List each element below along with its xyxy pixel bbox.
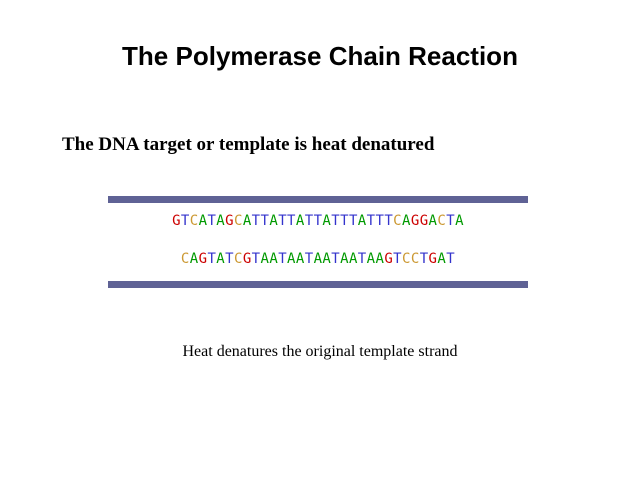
dna-base-t: T (305, 251, 314, 267)
dna-base-t: T (446, 251, 455, 267)
dna-base-t: T (278, 213, 287, 229)
dna-base-a: A (269, 213, 278, 229)
dna-base-c: C (402, 251, 411, 267)
dna-base-g: G (411, 213, 420, 229)
dna-base-t: T (340, 213, 349, 229)
dna-sequence-bottom: CAGTATCGTAATAATAATAATAAGTCCTGAT (108, 250, 528, 268)
dna-base-t: T (278, 251, 287, 267)
dna-base-t: T (420, 251, 429, 267)
dna-base-a: A (402, 213, 411, 229)
dna-base-a: A (216, 213, 225, 229)
dna-base-t: T (287, 213, 296, 229)
dna-base-t: T (331, 251, 340, 267)
dna-base-t: T (384, 213, 393, 229)
dna-base-a: A (322, 251, 331, 267)
dna-base-a: A (296, 251, 305, 267)
dna-base-t: T (446, 213, 455, 229)
dna-base-g: G (420, 213, 429, 229)
dna-base-g: G (384, 251, 393, 267)
dna-base-t: T (207, 251, 216, 267)
dna-base-t: T (252, 251, 261, 267)
dna-sequence-top: GTCATAGCATTATTATTATTTATTTCAGGACTA (108, 212, 528, 230)
dna-base-g: G (172, 213, 181, 229)
dna-base-c: C (437, 213, 446, 229)
dna-base-c: C (234, 251, 243, 267)
dna-base-g: G (225, 213, 234, 229)
dna-base-a: A (296, 213, 305, 229)
dna-base-a: A (216, 251, 225, 267)
page-title: The Polymerase Chain Reaction (0, 40, 640, 72)
dna-base-a: A (322, 213, 331, 229)
dna-backbone-bar-top (108, 196, 528, 203)
dna-base-t: T (331, 213, 340, 229)
dna-base-a: A (243, 213, 252, 229)
dna-base-a: A (349, 251, 358, 267)
dna-base-a: A (437, 251, 446, 267)
dna-base-a: A (358, 213, 367, 229)
dna-base-t: T (207, 213, 216, 229)
dna-base-t: T (349, 213, 358, 229)
dna-base-c: C (181, 251, 190, 267)
dna-duplex-diagram: GTCATAGCATTATTATTATTTATTTCAGGACTA CAGTAT… (108, 196, 528, 288)
presentation-slide: The Polymerase Chain Reaction The DNA ta… (0, 0, 640, 480)
dna-base-a: A (269, 251, 278, 267)
dna-base-g: G (243, 251, 252, 267)
dna-base-c: C (411, 251, 420, 267)
dna-base-t: T (393, 251, 402, 267)
dna-base-a: A (287, 251, 296, 267)
dna-base-t: T (181, 213, 190, 229)
dna-base-c: C (234, 213, 243, 229)
dna-base-c: C (393, 213, 402, 229)
dna-base-t: T (225, 251, 234, 267)
dna-base-t: T (305, 213, 314, 229)
dna-base-c: C (190, 213, 199, 229)
slide-subtitle: The DNA target or template is heat denat… (62, 133, 582, 157)
dna-base-t: T (252, 213, 261, 229)
dna-base-a: A (455, 213, 464, 229)
dna-base-t: T (375, 213, 384, 229)
dna-backbone-bar-bottom (108, 281, 528, 288)
diagram-caption: Heat denatures the original template str… (0, 342, 640, 362)
dna-base-t: T (358, 251, 367, 267)
dna-base-a: A (375, 251, 384, 267)
dna-base-a: A (340, 251, 349, 267)
dna-base-a: A (190, 251, 199, 267)
